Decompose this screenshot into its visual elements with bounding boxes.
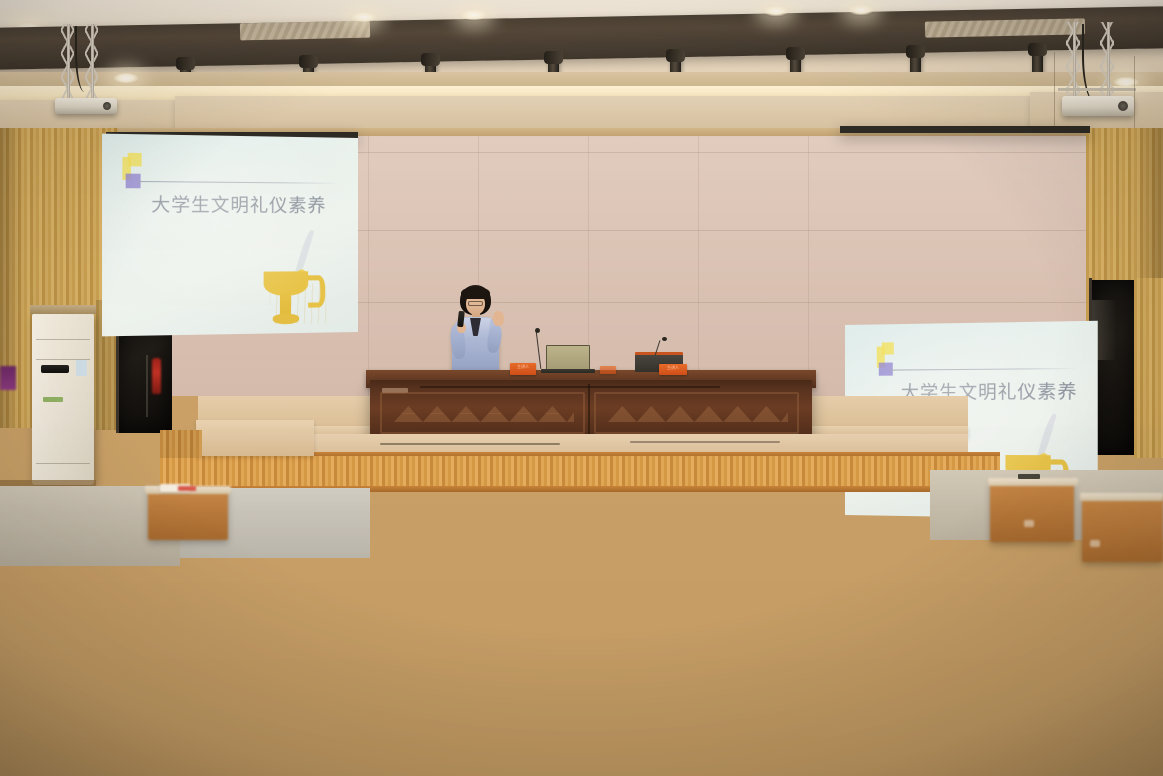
conference-table [370,380,812,442]
floor-cable [380,443,560,445]
slide-deco-yellow [128,153,142,167]
lift-rail [91,24,94,104]
air-conditioner-cabinet [32,313,94,485]
placard-text: 主讲人 [510,363,536,371]
lecture-hall-photo: 大学生文明礼仪素养 大学生文明礼仪素养 [0,0,1163,776]
table-front-panel [594,392,799,434]
fire-extinguisher [152,358,161,394]
left-ceiling-projector-mount [55,24,119,122]
floor-cable [630,441,780,443]
mount-guide-wire [1134,56,1135,132]
microphone-head [535,328,540,333]
left-side-desk [148,488,228,540]
desk-device [1018,474,1040,479]
left-projection-screen: 大学生文明礼仪素养 [102,134,358,337]
door-handle-line [146,355,148,417]
ac-brand-logo [43,397,63,402]
projector-tray [1058,88,1136,91]
table-section-divider [588,384,590,440]
recessed-downlight [762,5,790,17]
right-slat-wall-edge [1134,278,1163,458]
desk-label [1024,520,1034,527]
wall-seam [368,136,369,396]
name-placard[interactable] [600,366,616,374]
table-chevron-trim [394,406,574,422]
ac-cabinet-top [30,305,96,314]
right-side-desk-2 [1082,496,1163,562]
lift-rail [67,24,70,104]
wall-seam [808,136,809,396]
slide-rule-line [890,368,1076,371]
graphic-foot [273,314,299,325]
ac-display-panel [41,365,69,373]
microphone-head [662,337,667,341]
recessed-downlight [847,4,875,16]
placard-text: 主讲人 [659,364,687,372]
wall-sign [0,366,16,390]
right-ceiling-projector-mount [1060,22,1138,130]
name-placard[interactable]: 主讲人 [659,364,687,375]
right-side-desk-top [988,478,1078,486]
ceiling-soffit-shadow [0,72,1163,86]
speaker-hand-right [493,311,504,326]
graphic-chair [308,275,325,307]
projector-lens [1118,101,1128,111]
ceiling-air-vent [240,21,370,41]
stage-front-facing [160,456,1000,490]
slide-rule-line [137,181,339,184]
stage-step-facing [160,430,202,458]
cabinet-seam [36,463,90,464]
stage-side-step [196,420,314,456]
projector-cable [1082,24,1106,104]
laptop-screen [546,345,590,371]
projector-lens [103,102,111,110]
mount-guide-wire [1054,52,1055,132]
right-side-desk-2-top [1080,493,1163,501]
table-cabling [420,386,720,388]
right-side-desk [990,480,1074,542]
laptop-base [541,369,595,373]
projector-cable [75,26,91,92]
ac-sticker [76,360,87,376]
recessed-downlight [460,9,488,21]
cabinet-seam [36,339,90,340]
slide-gold-graphic [255,233,344,327]
name-placard[interactable]: 主讲人 [510,363,536,375]
slide-title-text: 大学生文明礼仪素养 [151,190,326,217]
red-document [178,486,196,491]
table-chevron-trim [608,406,788,422]
recessed-downlight [350,11,378,23]
wall-seam [698,136,699,396]
speaker-glasses [468,301,483,306]
table-front-panel [380,392,585,434]
speaker-fringe [461,287,490,299]
slide-deco-yellow [882,342,894,354]
right-screen-top-bar [840,126,1090,133]
desk-label [1090,540,1100,547]
